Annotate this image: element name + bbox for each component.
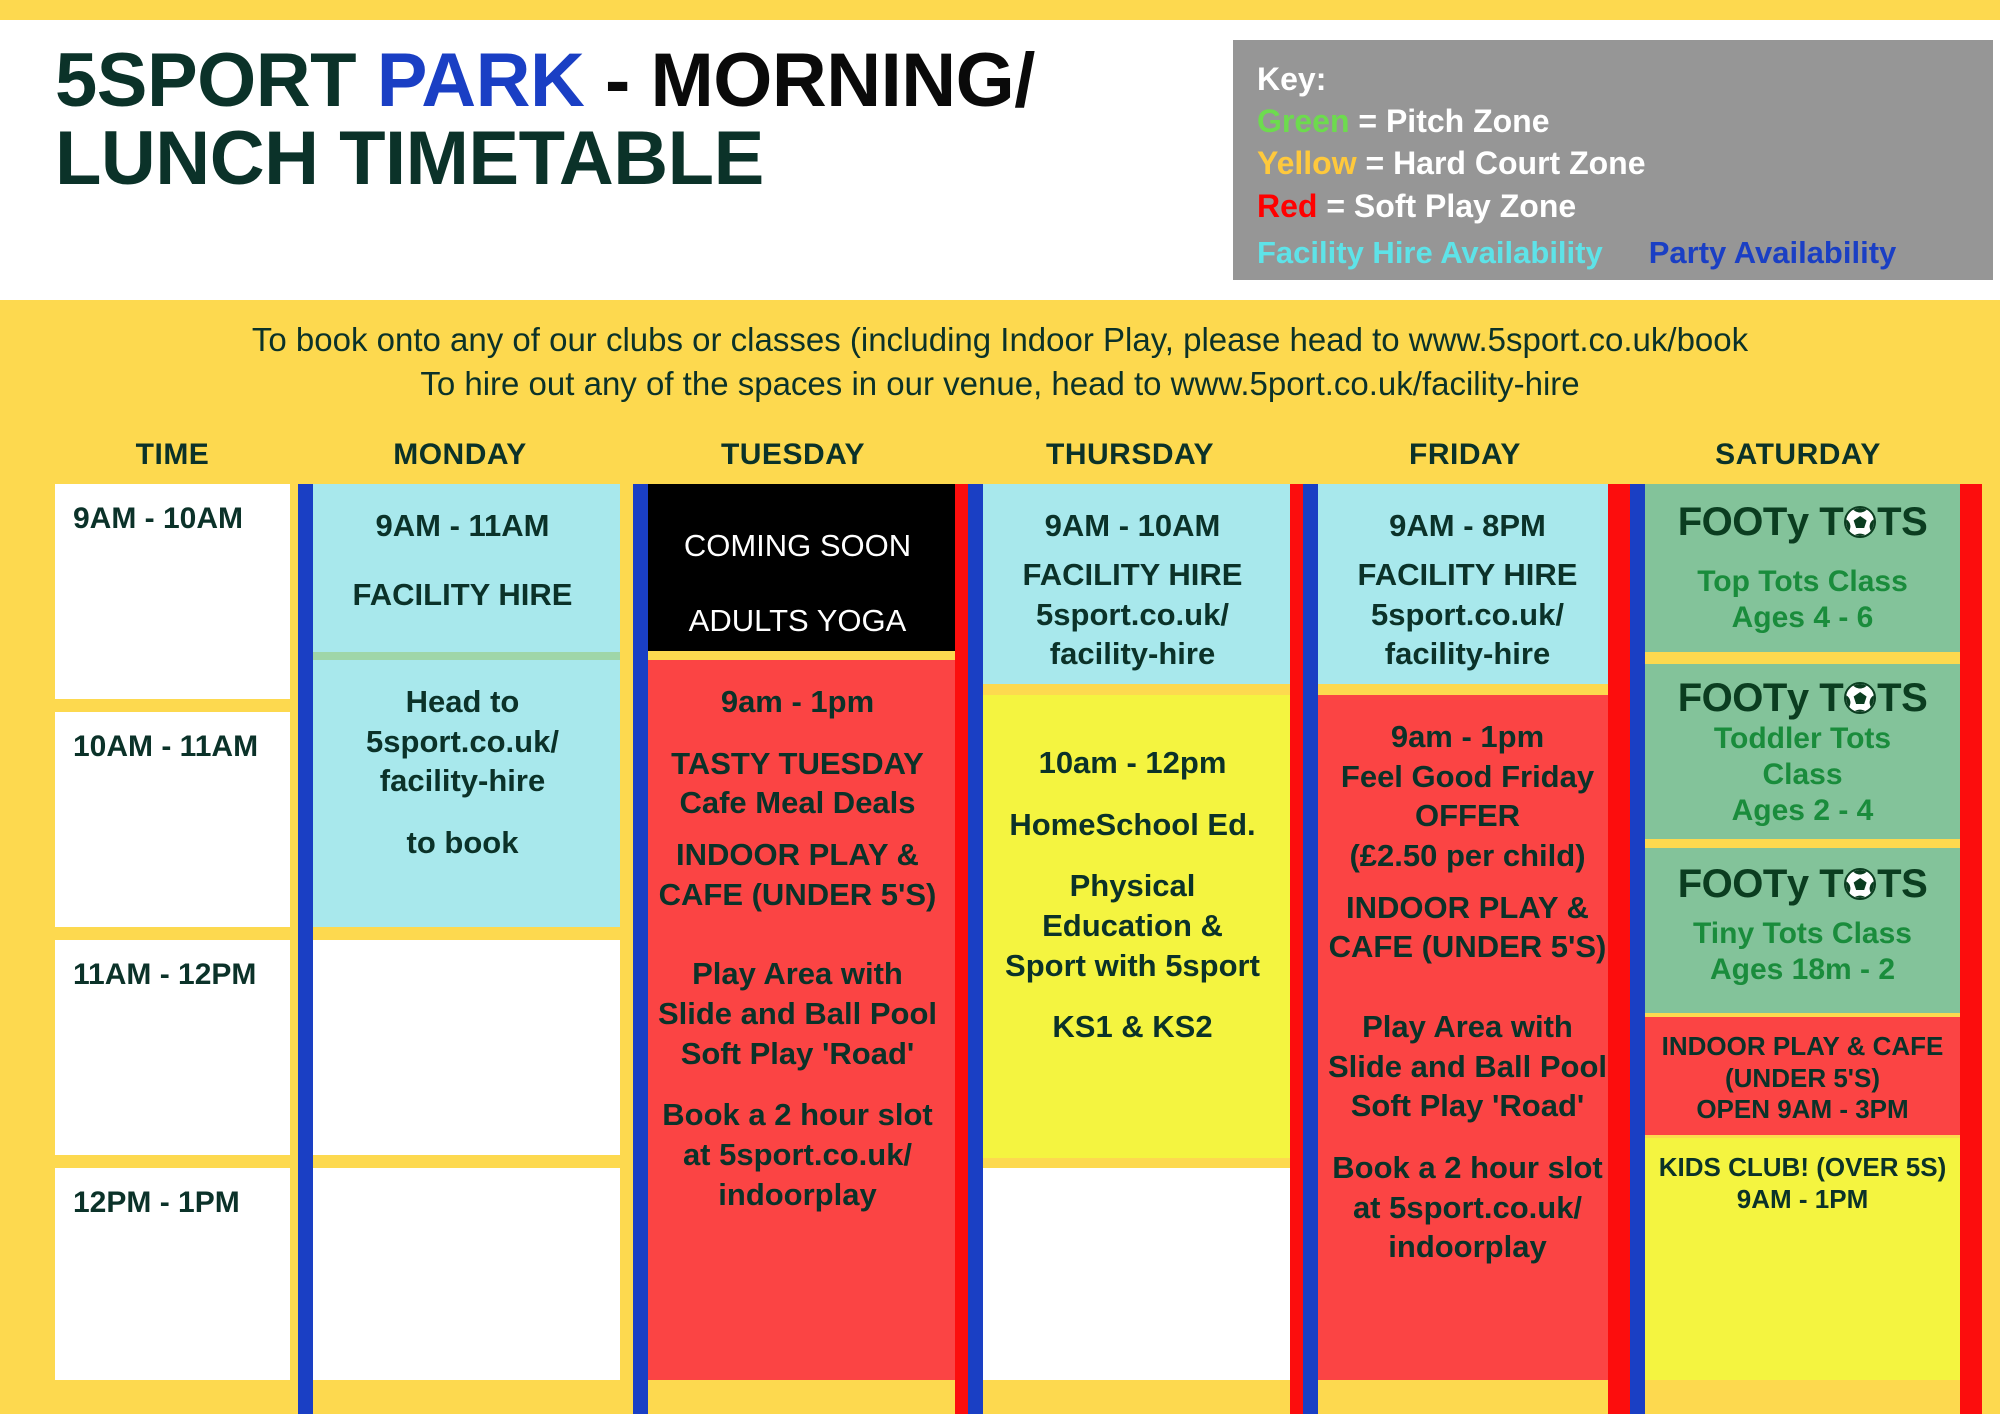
- column-header-saturday: SATURDAY: [1638, 438, 1958, 472]
- monday-facility-hire-top[interactable]: 9AM - 11AM: [305, 484, 620, 567]
- saturday-kids-club-cell[interactable]: KIDS CLUB! (OVER 5S) 9AM - 1PM: [1645, 1138, 1960, 1380]
- friday-play-l3: Soft Play 'Road': [1351, 1086, 1585, 1126]
- saturday-indoor-l3: OPEN 9AM - 3PM: [1696, 1094, 1908, 1126]
- friday-slot1-url2: facility-hire: [1385, 634, 1550, 674]
- thursday-empty-row-4: [975, 1168, 1290, 1380]
- saturday-indoor-l2: (UNDER 5'S): [1725, 1063, 1880, 1095]
- column-header-time: TIME: [55, 438, 290, 472]
- friday-book-l2: at 5sport.co.uk/: [1353, 1188, 1582, 1228]
- tuesday-book-l1: Book a 2 hour slot: [662, 1095, 932, 1135]
- soft-play-bar-saturday-right: [1960, 484, 1982, 1414]
- thursday-facility-hire-cell[interactable]: 9AM - 10AM FACILITY HIRE 5sport.co.uk/ f…: [975, 484, 1290, 684]
- saturday-class3-l1: Tiny Tots Class: [1693, 916, 1912, 952]
- column-header-friday: FRIDAY: [1305, 438, 1625, 472]
- booking-instructions: To book onto any of our clubs or classes…: [0, 318, 2000, 405]
- friday-book-l1: Book a 2 hour slot: [1332, 1148, 1602, 1188]
- tuesday-play-l1: Play Area with: [692, 954, 903, 994]
- saturday-indoor-play-cell[interactable]: INDOOR PLAY & CAFE (UNDER 5'S) OPEN 9AM …: [1645, 1017, 1960, 1135]
- saturday-class1-l1: Top Tots Class: [1697, 564, 1908, 600]
- friday-offer-l3: (£2.50 per child): [1349, 836, 1585, 876]
- tuesday-indoor-play-cell[interactable]: 9am - 1pm TASTY TUESDAY Cafe Meal Deals …: [640, 660, 955, 1380]
- tuesday-book-l3: indoorplay: [718, 1175, 876, 1215]
- monday-green-divider: [305, 652, 620, 660]
- friday-indoor-l1: INDOOR PLAY &: [1346, 888, 1589, 928]
- footy-tots-logo-2-text-c: y T: [1787, 678, 1843, 718]
- saturday-kids-l1: KIDS CLUB! (OVER 5S): [1659, 1152, 1946, 1184]
- booking-line-1: To book onto any of our clubs or classes…: [0, 318, 2000, 362]
- friday-facility-hire-cell[interactable]: 9AM - 8PM FACILITY HIRE 5sport.co.uk/ fa…: [1310, 484, 1625, 684]
- thursday-pe-l3: Sport with 5sport: [1005, 946, 1260, 986]
- key-red-row: Red = Soft Play Zone: [1257, 185, 1993, 227]
- key-green-word: Green: [1257, 103, 1349, 139]
- thursday-slot1-title: FACILITY HIRE: [1023, 555, 1243, 595]
- football-icon: [1844, 506, 1876, 538]
- saturday-toddler-tots-cell[interactable]: FOOTy TTS Toddler Tots Class Ages 2 - 4: [1645, 664, 1960, 839]
- saturday-class3-l2: Ages 18m - 2: [1710, 952, 1895, 988]
- football-icon: [1844, 868, 1876, 900]
- key-legend-box: Key: Green = Pitch Zone Yellow = Hard Co…: [1233, 40, 1993, 280]
- party-availability-bar-friday: [1303, 484, 1318, 1414]
- tuesday-time: 9am - 1pm: [721, 682, 874, 722]
- key-red-desc: = Soft Play Zone: [1317, 188, 1576, 224]
- soft-play-bar-friday-right: [1608, 484, 1630, 1414]
- title-line2: LUNCH TIMETABLE: [55, 116, 764, 201]
- time-row-2: 10AM - 11AM: [55, 712, 290, 927]
- footy-tots-logo-1-text-b: OOT: [1702, 502, 1787, 542]
- time-row-1-label: 9AM - 10AM: [73, 502, 243, 536]
- key-green-row: Green = Pitch Zone: [1257, 100, 1993, 142]
- party-availability-bar-monday: [298, 484, 313, 1414]
- footy-tots-logo-3-text-d: TS: [1877, 864, 1927, 904]
- friday-offer-time: 9am - 1pm: [1391, 717, 1544, 757]
- saturday-indoor-l1: INDOOR PLAY & CAFE: [1662, 1031, 1944, 1063]
- monday-url-1: 5sport.co.uk/: [366, 722, 559, 762]
- thursday-pe-l2: Education &: [1042, 906, 1223, 946]
- tuesday-tasty-l2: Cafe Meal Deals: [679, 783, 915, 823]
- key-yellow-word: Yellow: [1257, 145, 1357, 181]
- footy-tots-logo-2-text-d: TS: [1877, 678, 1927, 718]
- saturday-tiny-tots-cell[interactable]: FOOTy TTS Tiny Tots Class Ages 18m - 2: [1645, 848, 1960, 1013]
- thursday-slot1-url1: 5sport.co.uk/: [1036, 595, 1229, 635]
- tuesday-indoor-l1: INDOOR PLAY &: [676, 835, 919, 875]
- footy-tots-logo-1: FOOTy TTS: [1678, 502, 1928, 542]
- tuesday-indoor-l2: CAFE (UNDER 5'S): [659, 875, 937, 915]
- friday-slot1-time: 9AM - 8PM: [1389, 506, 1546, 546]
- footy-tots-logo-1-text-a: F: [1678, 502, 1702, 542]
- footy-tots-logo-1-text-c: y T: [1787, 502, 1843, 542]
- monday-url-2: facility-hire: [380, 761, 545, 801]
- footy-tots-logo-1-text-d: TS: [1877, 502, 1927, 542]
- monday-head-to: Head to: [406, 682, 520, 722]
- key-green-desc: = Pitch Zone: [1349, 103, 1549, 139]
- party-availability-bar-tuesday: [633, 484, 648, 1414]
- monday-empty-row-3: [305, 940, 620, 1155]
- thursday-slot1-time: 9AM - 10AM: [1045, 506, 1221, 546]
- thursday-slot2-time: 10am - 12pm: [1039, 743, 1227, 783]
- monday-facility-hire-title-cell[interactable]: FACILITY HIRE: [305, 567, 620, 652]
- thursday-slot1-url2: facility-hire: [1050, 634, 1215, 674]
- monday-slot1-time: 9AM - 11AM: [376, 506, 550, 546]
- thursday-homeschool-cell[interactable]: 10am - 12pm HomeSchool Ed. Physical Educ…: [975, 695, 1290, 1158]
- footy-tots-logo-3-text-b: OOT: [1702, 864, 1787, 904]
- friday-book-l3: indoorplay: [1388, 1227, 1546, 1267]
- key-facility-hire-availability: Facility Hire Availability: [1257, 235, 1603, 270]
- football-icon: [1844, 682, 1876, 714]
- time-row-1: 9AM - 10AM: [55, 484, 290, 699]
- friday-offer-l1: Feel Good Friday: [1341, 757, 1594, 797]
- saturday-kids-l2: 9AM - 1PM: [1737, 1184, 1868, 1216]
- footy-tots-logo-2: FOOTy TTS: [1678, 678, 1928, 718]
- footy-tots-logo-2-text-a: F: [1678, 678, 1702, 718]
- monday-slot1-title: FACILITY HIRE: [353, 575, 573, 615]
- time-row-4: 12PM - 1PM: [55, 1168, 290, 1380]
- footy-tots-logo-3: FOOTy TTS: [1678, 864, 1928, 904]
- tuesday-book-l2: at 5sport.co.uk/: [683, 1135, 912, 1175]
- monday-empty-row-4: [305, 1168, 620, 1380]
- thursday-ks-label: KS1 & KS2: [1052, 1007, 1212, 1047]
- footy-tots-logo-3-text-a: F: [1678, 864, 1702, 904]
- title-park: PARK: [377, 38, 585, 123]
- friday-offer-l2: OFFER: [1415, 796, 1520, 836]
- monday-book-cell[interactable]: Head to 5sport.co.uk/ facility-hire to b…: [305, 660, 620, 927]
- friday-indoor-l2: CAFE (UNDER 5'S): [1329, 927, 1607, 967]
- key-red-word: Red: [1257, 188, 1317, 224]
- thursday-slot2-title: HomeSchool Ed.: [1009, 805, 1255, 845]
- party-availability-bar-saturday: [1630, 484, 1645, 1414]
- monday-to-book: to book: [407, 823, 519, 863]
- footy-tots-logo-2-text-b: OOT: [1702, 678, 1787, 718]
- time-row-3-label: 11AM - 12PM: [73, 958, 256, 992]
- friday-offer-indoor-cell[interactable]: 9am - 1pm Feel Good Friday OFFER (£2.50 …: [1310, 695, 1625, 1380]
- saturday-class2-l3: Ages 2 - 4: [1732, 793, 1874, 829]
- friday-slot1-title: FACILITY HIRE: [1358, 555, 1578, 595]
- key-yellow-desc: = Hard Court Zone: [1357, 145, 1646, 181]
- booking-line-2: To hire out any of the spaces in our ven…: [0, 362, 2000, 406]
- column-header-monday: MONDAY: [300, 438, 620, 472]
- footy-tots-logo-3-text-c: y T: [1787, 864, 1843, 904]
- tuesday-play-l3: Soft Play 'Road': [681, 1034, 915, 1074]
- tuesday-coming-soon-cell[interactable]: COMING SOON ADULTS YOGA: [640, 484, 955, 651]
- saturday-class2-l2: Class: [1762, 757, 1842, 793]
- thursday-pe-l1: Physical: [1070, 866, 1196, 906]
- time-row-4-label: 12PM - 1PM: [73, 1186, 240, 1220]
- key-heading: Key:: [1257, 58, 1993, 100]
- key-yellow-row: Yellow = Hard Court Zone: [1257, 142, 1993, 184]
- column-header-thursday: THURSDAY: [970, 438, 1290, 472]
- saturday-class1-l2: Ages 4 - 6: [1732, 600, 1874, 636]
- timetable-poster: 5SPORT PARK - MORNING/ LUNCH TIMETABLE K…: [0, 0, 2000, 1414]
- page-title: 5SPORT PARK - MORNING/ LUNCH TIMETABLE: [55, 42, 1305, 197]
- time-row-3: 11AM - 12PM: [55, 940, 290, 1155]
- friday-play-l1: Play Area with: [1362, 1007, 1573, 1047]
- tuesday-tasty-l1: TASTY TUESDAY: [671, 744, 924, 784]
- top-yellow-strip: [0, 0, 2000, 20]
- column-header-tuesday: TUESDAY: [633, 438, 953, 472]
- party-availability-bar-thursday: [968, 484, 983, 1414]
- key-party-availability: Party Availability: [1649, 235, 1897, 270]
- key-availability-row: Facility Hire AvailabilityParty Availabi…: [1257, 235, 1993, 271]
- friday-slot1-url1: 5sport.co.uk/: [1371, 595, 1564, 635]
- tuesday-play-l2: Slide and Ball Pool: [658, 994, 937, 1034]
- saturday-class2-l1: Toddler Tots: [1714, 721, 1891, 757]
- tuesday-coming-soon: COMING SOON: [684, 526, 911, 566]
- title-5sport: 5SPORT: [55, 38, 377, 123]
- tuesday-adults-yoga: ADULTS YOGA: [689, 601, 907, 641]
- time-row-2-label: 10AM - 11AM: [73, 730, 258, 764]
- title-morning: - MORNING/: [584, 38, 1034, 123]
- saturday-top-tots-cell[interactable]: FOOTy TTS Top Tots Class Ages 4 - 6: [1645, 484, 1960, 652]
- friday-play-l2: Slide and Ball Pool: [1328, 1047, 1607, 1087]
